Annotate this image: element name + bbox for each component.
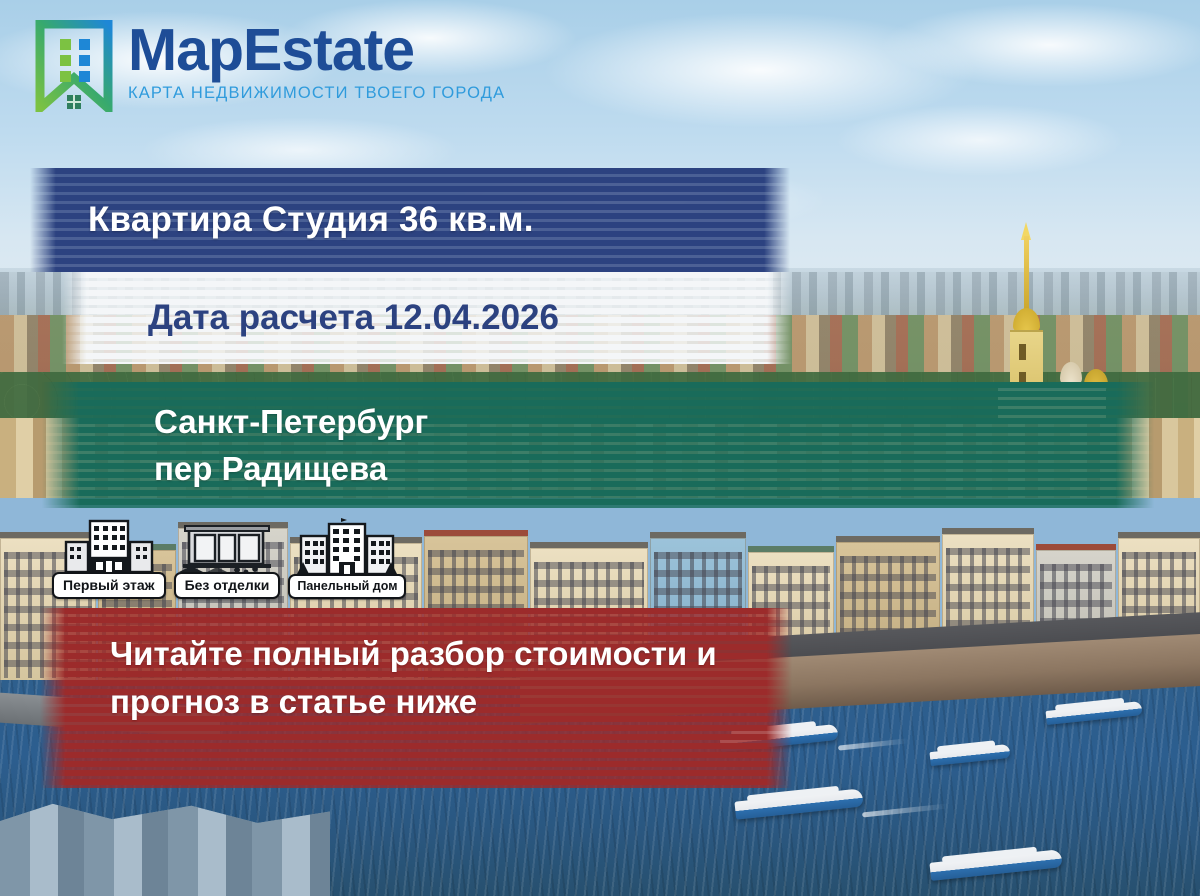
building-ground-floor-icon [63, 516, 155, 578]
brand-logo[interactable]: MapEstate КАРТА НЕДВИЖИМОСТИ ТВОЕГО ГОРО… [34, 20, 505, 112]
logo-tagline: КАРТА НЕДВИЖИМОСТИ ТВОЕГО ГОРОДА [128, 84, 505, 103]
feature-label-panel-building: Панельный дом [288, 574, 406, 599]
unfinished-interior-icon [175, 516, 279, 578]
logo-wordmark: MapEstate [128, 22, 505, 79]
logo-wordmark-estate: Estate [243, 17, 414, 83]
call-to-action-text: Читайте полный разбор стоимости и прогно… [40, 608, 792, 726]
feature-badge-first-floor[interactable]: Первый этаж [52, 516, 166, 599]
address-street: пер Радищева [154, 445, 428, 492]
calculation-date-banner: Дата расчета 12.04.2026 [62, 272, 792, 364]
feature-label-no-finishing: Без отделки [174, 572, 281, 599]
call-to-action-banner: Читайте полный разбор стоимости и прогно… [40, 608, 792, 788]
address-banner: Санкт-Петербург пер Радищева [42, 382, 1154, 508]
panel-apartment-block-icon [295, 518, 399, 580]
feature-badge-panel-building[interactable]: Панельный дом [288, 518, 406, 599]
logo-wordmark-map: Map [128, 17, 243, 83]
property-promo-poster: MapEstate КАРТА НЕДВИЖИМОСТИ ТВОЕГО ГОРО… [0, 0, 1200, 896]
feature-badge-no-finishing[interactable]: Без отделки [174, 516, 281, 599]
calculation-date-text: Дата расчета 12.04.2026 [62, 298, 559, 338]
property-title-banner: Квартира Студия 36 кв.м. [30, 168, 790, 272]
bookmark-building-icon [34, 20, 114, 112]
feature-label-first-floor: Первый этаж [52, 572, 166, 599]
address-city: Санкт-Петербург [154, 398, 428, 445]
logo-text-block: MapEstate КАРТА НЕДВИЖИМОСТИ ТВОЕГО ГОРО… [128, 22, 505, 103]
property-title-text: Квартира Студия 36 кв.м. [30, 200, 534, 240]
feature-badge-row: Первый этаж [52, 516, 406, 599]
address-text-block: Санкт-Петербург пер Радищева [42, 382, 428, 492]
